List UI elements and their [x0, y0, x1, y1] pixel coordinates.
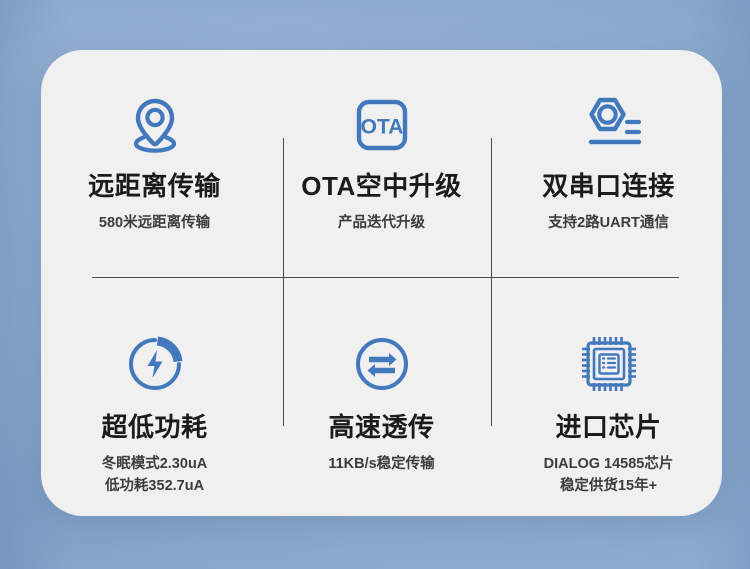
- feature-subtitle: 11KB/s稳定传输: [328, 453, 434, 475]
- feature-title: 超低功耗: [101, 413, 207, 442]
- feature-cell-ota: OTA OTA空中升级 产品迭代升级: [268, 50, 495, 283]
- feature-subtitle: 冬眠模式2.30uA 低功耗352.7uA: [102, 453, 208, 498]
- feature-title: 远距离传输: [88, 172, 221, 201]
- feature-subtitle-line1: 580米远距离传输: [99, 215, 210, 231]
- feature-title: OTA空中升级: [301, 172, 461, 201]
- vertical-divider-1: [283, 138, 284, 426]
- feature-subtitle: DIALOG 14585芯片 稳定供货15年+: [544, 453, 674, 498]
- feature-cell-imported-chip: 进口芯片 DIALOG 14585芯片 稳定供货15年+: [495, 283, 722, 516]
- feature-subtitle-line1: DIALOG 14585芯片: [544, 456, 674, 472]
- chip-icon: [571, 331, 647, 397]
- feature-subtitle: 支持2路UART通信: [548, 212, 669, 234]
- vertical-divider-2: [491, 138, 492, 426]
- feature-card: 远距离传输 580米远距离传输 OTA OTA空中升级 产品迭代升级: [41, 50, 722, 516]
- feature-subtitle-line2: 稳定供货15年+: [544, 475, 674, 497]
- feature-subtitle-line1: 冬眠模式2.30uA: [102, 456, 208, 472]
- feature-title: 高速透传: [328, 413, 434, 442]
- feature-cell-low-power: 超低功耗 冬眠模式2.30uA 低功耗352.7uA: [41, 283, 268, 516]
- product-feature-banner: 远距离传输 580米远距离传输 OTA OTA空中升级 产品迭代升级: [0, 0, 750, 569]
- feature-cell-dual-serial: 双串口连接 支持2路UART通信: [495, 50, 722, 283]
- location-pin-icon: [117, 92, 193, 158]
- horizontal-divider: [92, 277, 679, 278]
- bidirectional-transfer-icon: [344, 331, 420, 397]
- feature-title: 进口芯片: [555, 413, 661, 442]
- feature-subtitle-line1: 11KB/s稳定传输: [328, 456, 434, 472]
- feature-subtitle: 580米远距离传输: [99, 212, 210, 234]
- feature-subtitle-line1: 支持2路UART通信: [548, 215, 669, 231]
- feature-grid: 远距离传输 580米远距离传输 OTA OTA空中升级 产品迭代升级: [41, 50, 722, 516]
- dual-serial-port-icon: [571, 92, 647, 158]
- feature-subtitle-line1: 产品迭代升级: [338, 215, 425, 231]
- feature-subtitle: 产品迭代升级: [338, 212, 425, 234]
- feature-title: 双串口连接: [542, 172, 675, 201]
- ota-box-icon: OTA: [344, 92, 420, 158]
- feature-cell-high-speed: 高速透传 11KB/s稳定传输: [268, 283, 495, 516]
- low-power-bolt-icon: [117, 331, 193, 397]
- feature-cell-long-range: 远距离传输 580米远距离传输: [41, 50, 268, 283]
- ota-icon-label: OTA: [360, 116, 403, 139]
- feature-subtitle-line2: 低功耗352.7uA: [102, 475, 208, 497]
